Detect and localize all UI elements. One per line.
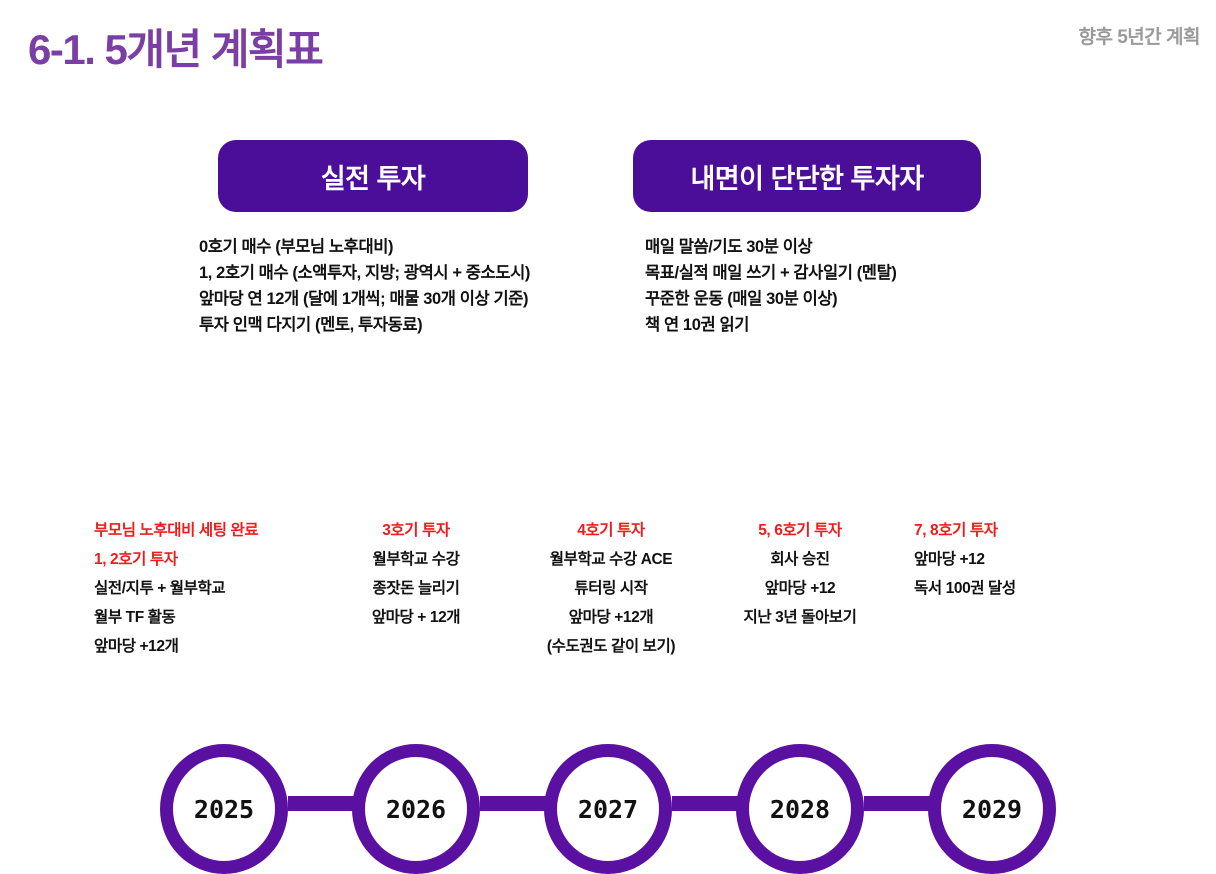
column-line: 앞마당 +12개 bbox=[94, 632, 324, 661]
column-line: 앞마당 + 12개 bbox=[316, 603, 516, 632]
timeline-node-2026: 2026 bbox=[352, 744, 480, 874]
top-block-line: 목표/실적 매일 쓰기 + 감사일기 (멘탈) bbox=[645, 260, 896, 286]
top-block-line: 꾸준한 운동 (매일 30분 이상) bbox=[645, 286, 896, 312]
top-block-line: 0호기 매수 (부모님 노후대비) bbox=[199, 234, 530, 260]
top-block-line: 책 연 10권 읽기 bbox=[645, 312, 896, 338]
timeline-year-label: 2026 bbox=[386, 795, 446, 824]
timeline-column-2026: 3호기 투자 월부학교 수강 종잣돈 늘리기 앞마당 + 12개 bbox=[316, 516, 516, 632]
column-line: (수도권도 같이 보기) bbox=[498, 632, 724, 661]
banner-strong-minded-investor: 내면이 단단한 투자자 bbox=[633, 140, 981, 212]
top-block-practical-investment: 0호기 매수 (부모님 노후대비) 1, 2호기 매수 (소액투자, 지방; 광… bbox=[199, 234, 530, 338]
timeline-year-label: 2029 bbox=[962, 795, 1022, 824]
column-line: 앞마당 +12개 bbox=[498, 603, 724, 632]
top-block-line: 투자 인맥 다지기 (멘토, 투자동료) bbox=[199, 312, 530, 338]
timeline-node-2029: 2029 bbox=[928, 744, 1056, 874]
top-block-line: 앞마당 연 12개 (달에 1개씩; 매물 30개 이상 기준) bbox=[199, 286, 530, 312]
column-line: 실전/지투 + 월부학교 bbox=[94, 574, 324, 603]
column-line: 1, 2호기 투자 bbox=[94, 545, 324, 574]
column-line: 독서 100권 달성 bbox=[914, 574, 1134, 603]
banner-label: 내면이 단단한 투자자 bbox=[690, 157, 923, 196]
column-line: 4호기 투자 bbox=[498, 516, 724, 545]
banner-label: 실전 투자 bbox=[321, 157, 425, 196]
column-line: 종잣돈 늘리기 bbox=[316, 574, 516, 603]
column-line: 5, 6호기 투자 bbox=[700, 516, 900, 545]
banner-practical-investment: 실전 투자 bbox=[218, 140, 528, 212]
timeline: 2025 2026 2027 2028 2029 bbox=[0, 372, 1216, 502]
column-line: 지난 3년 돌아보기 bbox=[700, 603, 900, 632]
column-line: 앞마당 +12 bbox=[700, 574, 900, 603]
timeline-year-label: 2027 bbox=[578, 795, 638, 824]
timeline-connector-2027-2028 bbox=[672, 796, 738, 811]
timeline-node-2028: 2028 bbox=[736, 744, 864, 874]
column-line: 월부 TF 활동 bbox=[94, 603, 324, 632]
column-line: 튜터링 시작 bbox=[498, 574, 724, 603]
timeline-column-2028: 5, 6호기 투자 회사 승진 앞마당 +12 지난 3년 돌아보기 bbox=[700, 516, 900, 632]
timeline-column-2027: 4호기 투자 월부학교 수강 ACE 튜터링 시작 앞마당 +12개 (수도권도… bbox=[498, 516, 724, 661]
column-line: 월부학교 수강 ACE bbox=[498, 545, 724, 574]
column-line: 부모님 노후대비 세팅 완료 bbox=[94, 516, 324, 545]
column-line: 7, 8호기 투자 bbox=[914, 516, 1134, 545]
timeline-year-label: 2025 bbox=[194, 795, 254, 824]
header-subtitle-note: 향후 5년간 계획 bbox=[1078, 22, 1200, 49]
timeline-column-2025: 부모님 노후대비 세팅 완료 1, 2호기 투자 실전/지투 + 월부학교 월부… bbox=[94, 516, 324, 661]
page-title: 6-1. 5개년 계획표 bbox=[28, 16, 322, 77]
timeline-node-2027: 2027 bbox=[544, 744, 672, 874]
timeline-connector-2025-2026 bbox=[288, 796, 354, 811]
timeline-connector-2028-2029 bbox=[864, 796, 930, 811]
column-line: 앞마당 +12 bbox=[914, 545, 1134, 574]
slide-header: 6-1. 5개년 계획표 향후 5년간 계획 bbox=[0, 0, 1216, 100]
column-line: 3호기 투자 bbox=[316, 516, 516, 545]
column-line: 회사 승진 bbox=[700, 545, 900, 574]
top-block-line: 1, 2호기 매수 (소액투자, 지방; 광역시 + 중소도시) bbox=[199, 260, 530, 286]
top-block-strong-minded-investor: 매일 말씀/기도 30분 이상 목표/실적 매일 쓰기 + 감사일기 (멘탈) … bbox=[645, 234, 896, 338]
timeline-connector-2026-2027 bbox=[480, 796, 546, 811]
column-line: 월부학교 수강 bbox=[316, 545, 516, 574]
top-block-line: 매일 말씀/기도 30분 이상 bbox=[645, 234, 896, 260]
timeline-column-2029: 7, 8호기 투자 앞마당 +12 독서 100권 달성 bbox=[914, 516, 1134, 603]
timeline-year-label: 2028 bbox=[770, 795, 830, 824]
timeline-node-2025: 2025 bbox=[160, 744, 288, 874]
